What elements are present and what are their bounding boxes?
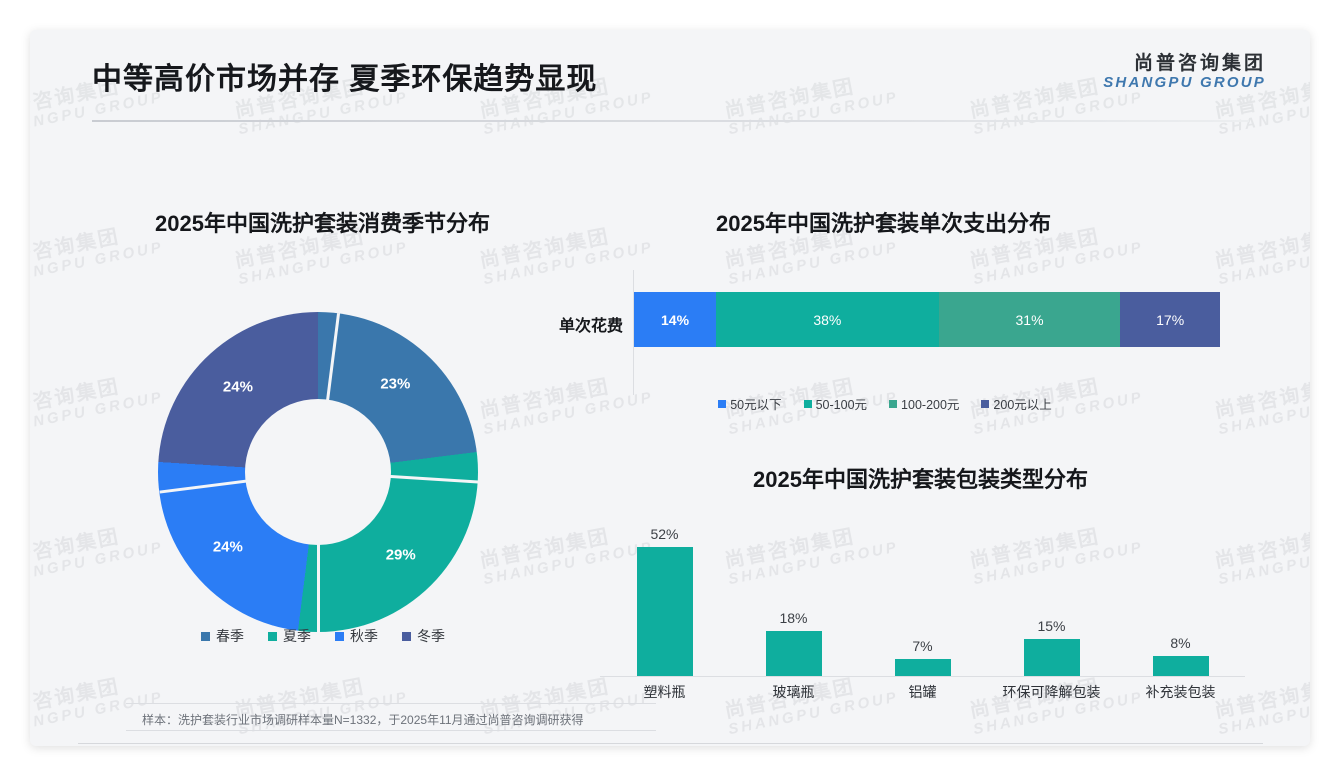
brand-logo: 尚普咨询集团 SHANGPU GROUP bbox=[1103, 54, 1266, 91]
packaging-columns: 52%18%7%15%8% bbox=[600, 526, 1245, 676]
donut-chart: 23%29%24%24% bbox=[158, 312, 478, 632]
legend-label: 春季 bbox=[216, 626, 244, 646]
sample-footnote: 样本：洗护套装行业市场调研样本量N=1332，于2025年11月通过尚普咨询调研… bbox=[142, 711, 584, 728]
spend-bar-segment[interactable]: 38% bbox=[716, 292, 939, 347]
donut-segment-divider bbox=[317, 472, 320, 632]
legend-swatch bbox=[402, 632, 411, 641]
spend-legend-item[interactable]: 100-200元 bbox=[889, 394, 959, 413]
packaging-bar-chart: 52%18%7%15%8% 塑料瓶玻璃瓶铝罐环保可降解包装补充装包装 bbox=[570, 500, 1270, 710]
packaging-value-label: 7% bbox=[912, 638, 932, 654]
spend-bar-track: 14%38%31%17% bbox=[634, 292, 1220, 347]
spend-legend-item[interactable]: 50元以下 bbox=[718, 394, 781, 413]
legend-swatch bbox=[201, 632, 210, 641]
spend-chart-title: 2025年中国洗护套装单次支出分布 bbox=[716, 206, 1051, 238]
packaging-bar[interactable] bbox=[1024, 639, 1080, 677]
packaging-bar[interactable] bbox=[895, 659, 951, 677]
slide-header: 中等高价市场并存 夏季环保趋势显现 尚普咨询集团 SHANGPU GROUP bbox=[30, 30, 1310, 122]
spend-category-label: 单次花费 bbox=[525, 312, 623, 336]
packaging-category-label: 塑料瓶 bbox=[600, 682, 729, 708]
footnote-divider-top bbox=[126, 703, 656, 704]
legend-swatch bbox=[718, 400, 726, 408]
logo-english-text: SHANGPU GROUP bbox=[1103, 75, 1266, 92]
watermark-text: 尚普咨询集团SHANGPU GROUP bbox=[30, 519, 165, 588]
legend-label: 秋季 bbox=[350, 626, 378, 646]
spend-stacked-bar-chart: 单次花费 14%38%31%17% bbox=[525, 270, 1245, 395]
legend-swatch bbox=[889, 400, 897, 408]
packaging-value-label: 8% bbox=[1170, 635, 1190, 651]
donut-legend-item[interactable]: 夏季 bbox=[268, 626, 311, 646]
donut-legend-item[interactable]: 冬季 bbox=[402, 626, 445, 646]
header-divider bbox=[92, 120, 1249, 122]
packaging-column[interactable]: 7% bbox=[858, 526, 987, 676]
legend-swatch bbox=[981, 400, 989, 408]
donut-slice-label: 29% bbox=[386, 546, 416, 563]
donut-slice-label: 24% bbox=[223, 378, 253, 395]
legend-label: 冬季 bbox=[417, 626, 445, 646]
packaging-category-label: 环保可降解包装 bbox=[987, 682, 1116, 708]
footer-divider bbox=[78, 743, 1263, 744]
spend-bar-segment[interactable]: 31% bbox=[939, 292, 1121, 347]
donut-chart-title: 2025年中国洗护套装消费季节分布 bbox=[155, 206, 490, 238]
donut-slice-label: 24% bbox=[213, 538, 243, 555]
slide-card: 尚普咨询集团SHANGPU GROUP尚普咨询集团SHANGPU GROUP尚普… bbox=[30, 30, 1310, 746]
spend-bar-segment[interactable]: 14% bbox=[634, 292, 716, 347]
watermark-text: 尚普咨询集团SHANGPU GROUP bbox=[30, 219, 165, 288]
packaging-chart-title: 2025年中国洗护套装包装类型分布 bbox=[753, 462, 1088, 494]
packaging-baseline bbox=[600, 676, 1245, 677]
packaging-category-label: 玻璃瓶 bbox=[729, 682, 858, 708]
spend-bar-segment[interactable]: 17% bbox=[1120, 292, 1220, 347]
spend-legend: 50元以下50-100元100-200元200元以上 bbox=[525, 394, 1245, 413]
packaging-category-labels: 塑料瓶玻璃瓶铝罐环保可降解包装补充装包装 bbox=[600, 682, 1245, 708]
legend-swatch bbox=[268, 632, 277, 641]
page-title: 中等高价市场并存 夏季环保趋势显现 bbox=[92, 54, 597, 98]
packaging-bar[interactable] bbox=[1153, 656, 1209, 676]
logo-chinese-text: 尚普咨询集团 bbox=[1103, 54, 1266, 75]
packaging-value-label: 52% bbox=[650, 526, 678, 542]
packaging-column[interactable]: 8% bbox=[1116, 526, 1245, 676]
legend-label: 50元以下 bbox=[730, 394, 781, 413]
donut-legend-item[interactable]: 春季 bbox=[201, 626, 244, 646]
donut-slice-label: 23% bbox=[380, 376, 410, 393]
spend-legend-item[interactable]: 50-100元 bbox=[804, 394, 867, 413]
legend-label: 50-100元 bbox=[816, 394, 867, 413]
watermark-text: 尚普咨询集团SHANGPU GROUP bbox=[30, 369, 165, 438]
legend-label: 200元以上 bbox=[993, 394, 1051, 413]
packaging-value-label: 15% bbox=[1037, 618, 1065, 634]
legend-label: 夏季 bbox=[283, 626, 311, 646]
packaging-column[interactable]: 52% bbox=[600, 526, 729, 676]
packaging-value-label: 18% bbox=[779, 610, 807, 626]
packaging-column[interactable]: 15% bbox=[987, 526, 1116, 676]
legend-swatch bbox=[804, 400, 812, 408]
donut-legend: 春季夏季秋季冬季 bbox=[158, 624, 488, 648]
packaging-bar[interactable] bbox=[766, 631, 822, 676]
donut-legend-item[interactable]: 秋季 bbox=[335, 626, 378, 646]
legend-swatch bbox=[335, 632, 344, 641]
packaging-column[interactable]: 18% bbox=[729, 526, 858, 676]
packaging-category-label: 铝罐 bbox=[858, 682, 987, 708]
footnote-divider-bottom bbox=[126, 730, 656, 731]
spend-legend-item[interactable]: 200元以上 bbox=[981, 394, 1051, 413]
packaging-category-label: 补充装包装 bbox=[1116, 682, 1245, 708]
packaging-bar[interactable] bbox=[637, 547, 693, 676]
legend-label: 100-200元 bbox=[901, 394, 959, 413]
